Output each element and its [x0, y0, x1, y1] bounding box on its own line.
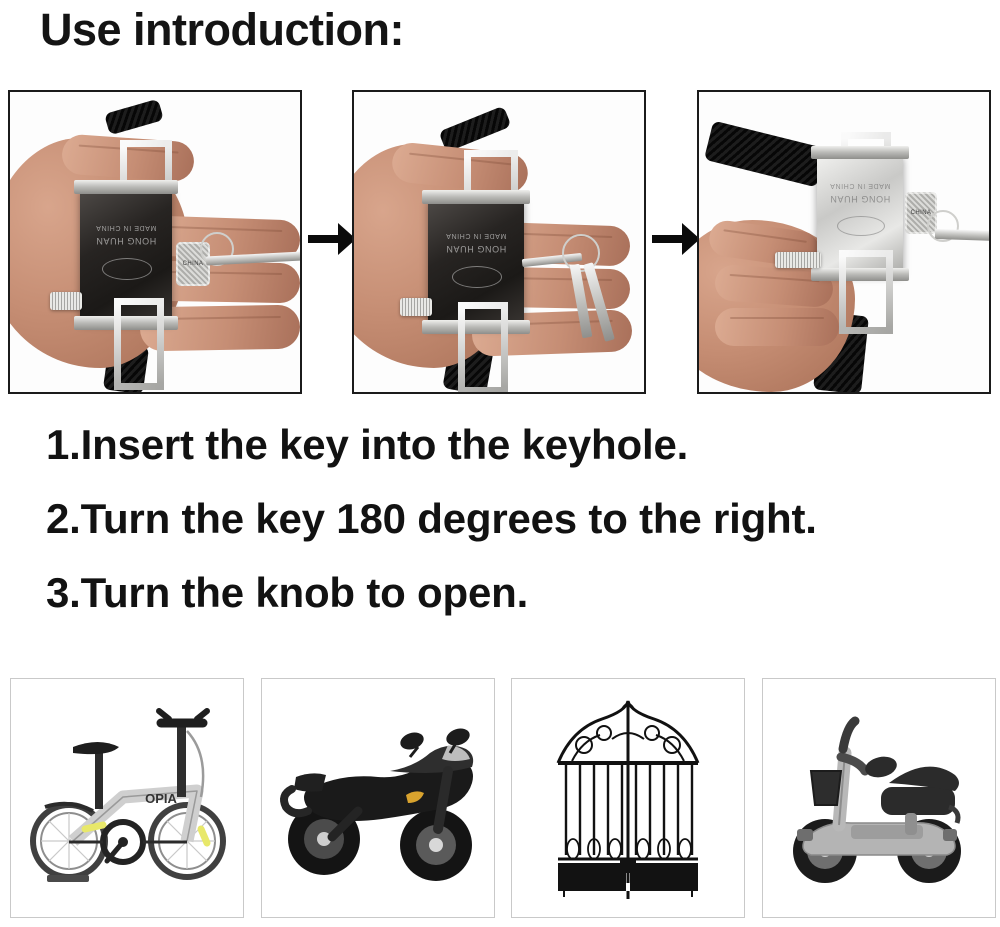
application-image-wrought-iron-gate	[511, 678, 745, 918]
key-ring	[562, 234, 600, 272]
lock-cap-top	[74, 180, 178, 194]
lock-engraving-brand: HONG HUAN	[428, 244, 524, 254]
lock-knob	[400, 298, 432, 316]
arrow-step-2-to-3	[650, 216, 702, 262]
arrow-step-1-to-2	[306, 216, 358, 262]
lock-logo-oval	[452, 266, 502, 288]
application-image-mobility-scooter	[762, 678, 996, 918]
shackle-bottom	[839, 250, 893, 334]
lock-cap-top	[422, 190, 530, 204]
lock-logo-oval	[102, 258, 152, 280]
application-image-sport-motorcycle	[261, 678, 495, 918]
instruction-line-3: 3.Turn the knob to open.	[46, 556, 966, 630]
lock-engraving-brand: HONG HUAN	[80, 236, 172, 246]
lock-logo-oval	[837, 216, 885, 236]
lock-knob	[775, 252, 821, 268]
chain-sleeve-top	[438, 106, 511, 153]
lock-engraving-made-in: MADE IN CHINA	[428, 232, 524, 239]
instruction-line-2: 2.Turn the key 180 degrees to the right.	[46, 482, 966, 556]
chain-sleeve-left	[704, 121, 826, 188]
lock-engraving-made-in: MADE IN CHINA	[80, 224, 172, 231]
instruction-list: 1.Insert the key into the keyhole. 2.Tur…	[46, 408, 966, 630]
scene-insert-key: MADE IN CHINA HONG HUAN CHINA	[10, 92, 300, 392]
shackle-bottom	[114, 298, 164, 390]
application-images-row: OPIA	[0, 678, 1000, 918]
page-title: Use introduction:	[40, 2, 404, 58]
step-photo-2: MADE IN CHINA HONG HUAN	[352, 90, 646, 394]
finger-ring	[150, 261, 301, 304]
chain-sleeve-top	[104, 99, 164, 136]
finger-ring	[715, 308, 839, 346]
bike-brand-text: OPIA	[145, 791, 177, 806]
lock-cap-top	[811, 146, 909, 159]
lock-knob	[50, 292, 82, 310]
step-photo-1: MADE IN CHINA HONG HUAN CHINA	[8, 90, 302, 394]
scene-turn-key: MADE IN CHINA HONG HUAN	[354, 92, 644, 392]
step-photo-3: MADE IN CHINA HONG HUAN CHINA	[697, 90, 991, 394]
scene-turn-knob: MADE IN CHINA HONG HUAN CHINA	[699, 92, 989, 392]
application-image-folding-bicycle: OPIA	[10, 678, 244, 918]
instruction-line-1: 1.Insert the key into the keyhole.	[46, 408, 966, 482]
padlock-body: MADE IN CHINA HONG HUAN	[80, 188, 172, 322]
lock-engraving-made-in: MADE IN CHINA	[817, 182, 903, 189]
steps-photo-row: MADE IN CHINA HONG HUAN CHINA	[0, 90, 1000, 392]
lock-engraving-brand: HONG HUAN	[817, 194, 903, 204]
shackle-bottom	[458, 302, 508, 394]
